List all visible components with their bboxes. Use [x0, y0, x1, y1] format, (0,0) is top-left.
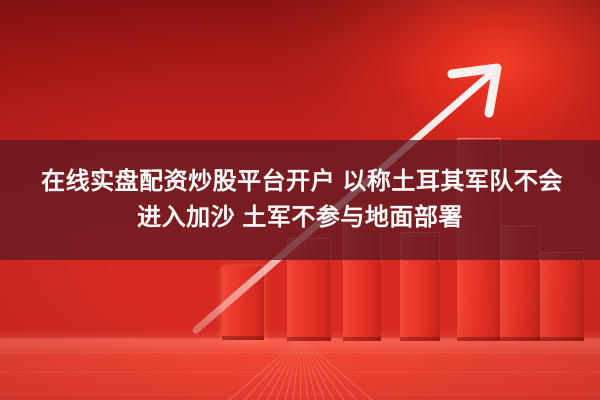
banner-image: 在线实盘配资炒股平台开户 以称土耳其军队不会 进入加沙 土军不参与地面部署	[0, 0, 600, 400]
headline-line-2: 进入加沙 土军不参与地面部署	[137, 203, 463, 233]
headline-text-block: 在线实盘配资炒股平台开户 以称土耳其军队不会 进入加沙 土军不参与地面部署	[0, 140, 600, 260]
headline-line-1: 在线实盘配资炒股平台开户 以称土耳其军队不会	[37, 167, 563, 197]
